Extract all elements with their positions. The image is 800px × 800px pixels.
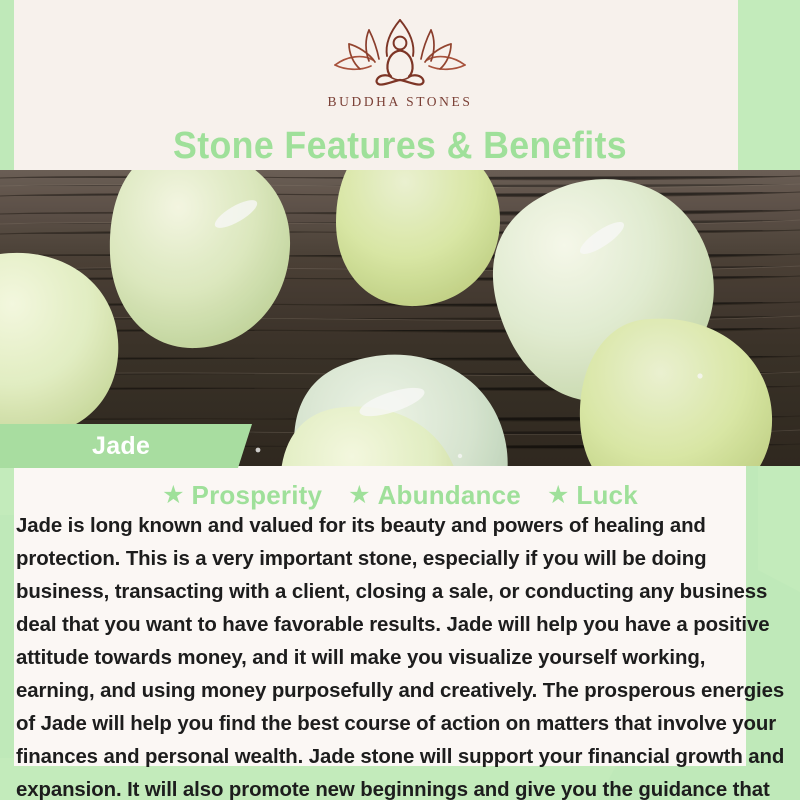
star-icon: ★ bbox=[162, 483, 184, 508]
description-text: Jade is long known and valued for its be… bbox=[16, 510, 788, 800]
stone-name-banner: Jade bbox=[0, 424, 252, 468]
jade-stones-photo bbox=[0, 170, 800, 466]
benefit-item-prosperity: ★ Prosperity bbox=[162, 480, 322, 511]
benefit-label: Prosperity bbox=[192, 480, 323, 511]
brand-block: BUDDHA STONES bbox=[0, 18, 800, 110]
benefit-item-luck: ★ Luck bbox=[547, 480, 638, 511]
page-title: Stone Features & Benefits bbox=[24, 125, 776, 168]
benefit-label: Abundance bbox=[378, 480, 521, 511]
lotus-meditation-icon bbox=[327, 18, 473, 88]
brand-name: BUDDHA STONES bbox=[328, 94, 473, 110]
benefit-label: Luck bbox=[576, 480, 637, 511]
infographic-poster: BUDDHA STONES Stone Features & Benefits bbox=[0, 0, 800, 800]
stone-name: Jade bbox=[92, 432, 150, 461]
benefit-item-abundance: ★ Abundance bbox=[348, 480, 521, 511]
benefits-row: ★ Prosperity ★ Abundance ★ Luck bbox=[0, 480, 800, 511]
star-icon: ★ bbox=[547, 483, 569, 508]
star-icon: ★ bbox=[348, 483, 370, 508]
